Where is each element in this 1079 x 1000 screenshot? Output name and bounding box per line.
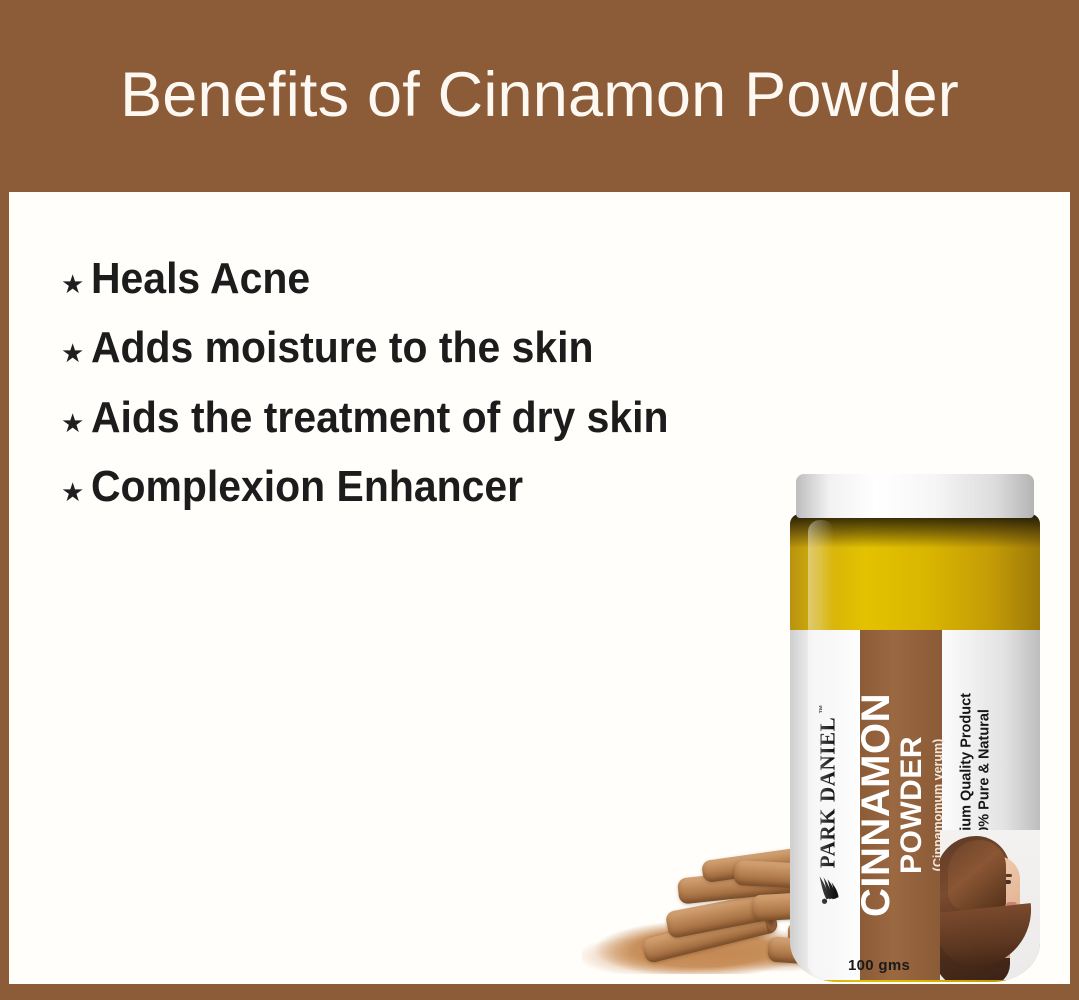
benefit-label: Aids the treatment of dry skin	[91, 393, 669, 442]
list-item: ★ Heals Acne	[61, 254, 712, 303]
list-item: ★ Adds moisture to the skin	[61, 323, 712, 372]
jar-body: CINNAMON POWDER (Cinnamomum verum)	[790, 514, 1040, 982]
star-bullet-icon: ★	[61, 271, 91, 297]
product-name-line2: POWDER	[897, 693, 927, 917]
model-hair-front	[948, 840, 1006, 910]
star-bullet-icon: ★	[61, 410, 91, 436]
benefit-label: Complexion Enhancer	[91, 462, 523, 511]
jar-label: CINNAMON POWDER (Cinnamomum verum)	[790, 630, 1040, 980]
product-jar: CINNAMON POWDER (Cinnamomum verum)	[790, 474, 1040, 984]
label-brown-band: CINNAMON POWDER (Cinnamomum verum)	[860, 630, 942, 980]
park-daniel-hair-logo-icon	[817, 875, 839, 905]
page-title: Benefits of Cinnamon Powder	[120, 64, 959, 127]
net-weight-label: 100 gms	[848, 957, 910, 974]
poster-root: Benefits of Cinnamon Powder ★ Heals Acne…	[0, 0, 1079, 1000]
star-bullet-icon: ★	[61, 479, 91, 505]
benefit-label: Heals Acne	[91, 254, 310, 303]
list-item: ★ Aids the treatment of dry skin	[61, 393, 712, 442]
brand-name: PARK DANIEL	[816, 717, 841, 868]
list-item: ★ Complexion Enhancer	[61, 462, 712, 511]
star-bullet-icon: ★	[61, 340, 91, 366]
model-hair-strand	[940, 903, 1037, 971]
jar-lid	[796, 474, 1034, 518]
hair-model-photo	[940, 830, 1040, 980]
product-name-block: CINNAMON POWDER (Cinnamomum verum)	[857, 693, 945, 917]
product-name-line1: CINNAMON	[857, 693, 895, 917]
trademark-symbol: ™	[818, 705, 828, 714]
brand-block: PARK DANIEL ™	[796, 630, 860, 980]
product-photo: CINNAMON POWDER (Cinnamomum verum)	[582, 464, 1062, 984]
content-card: ★ Heals Acne ★ Adds moisture to the skin…	[9, 192, 1070, 984]
benefit-label: Adds moisture to the skin	[91, 323, 593, 372]
header-banner: Benefits of Cinnamon Powder	[0, 0, 1079, 190]
benefits-list: ★ Heals Acne ★ Adds moisture to the skin…	[61, 254, 712, 531]
